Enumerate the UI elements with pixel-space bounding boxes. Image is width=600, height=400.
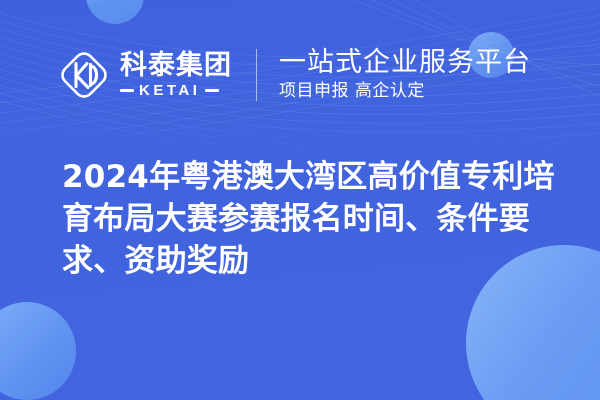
dash-right-icon bbox=[205, 89, 219, 92]
ketai-diamond-monogram-icon bbox=[57, 48, 111, 102]
promo-banner: 科泰集团 KETAI 一站式企业服务平台 项目申报 高企认定 2024年粤港澳大… bbox=[0, 0, 600, 400]
brand-name-en: KETAI bbox=[139, 83, 200, 98]
header-divider bbox=[256, 49, 257, 101]
dash-left-icon bbox=[120, 89, 134, 92]
banner-header: 科泰集团 KETAI 一站式企业服务平台 项目申报 高企认定 bbox=[0, 40, 600, 110]
brand-name-cn: 科泰集团 bbox=[120, 52, 232, 80]
brand-wordmark: 科泰集团 KETAI bbox=[120, 52, 232, 97]
tagline-main: 一站式企业服务平台 bbox=[279, 48, 531, 78]
brand-name-en-row: KETAI bbox=[120, 83, 232, 98]
tagline-sub: 项目申报 高企认定 bbox=[279, 81, 531, 101]
page-title: 2024年粤港澳大湾区高价值专利培育布局大赛参赛报名时间、条件要求、资助奖励 bbox=[62, 156, 562, 282]
header-tagline: 一站式企业服务平台 项目申报 高企认定 bbox=[279, 48, 531, 102]
